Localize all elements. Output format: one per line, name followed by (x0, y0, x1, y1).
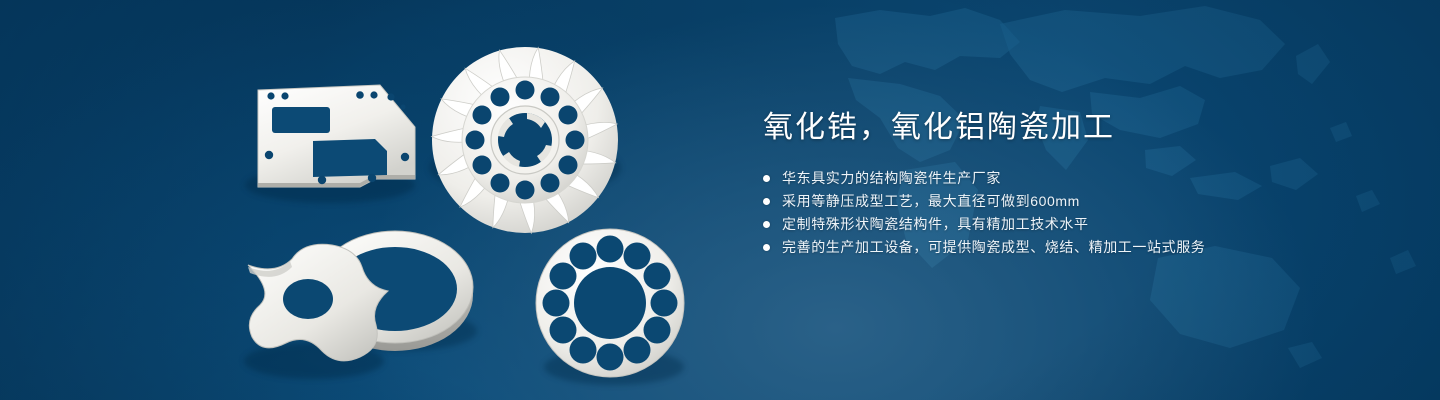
feature-list: 华东具实力的结构陶瓷件生产厂家 采用等静压成型工艺，最大直径可做到600mm 定… (763, 167, 1383, 258)
hero-banner: 氧化锆，氧化铝陶瓷加工 华东具实力的结构陶瓷件生产厂家 采用等静压成型工艺，最大… (0, 0, 1440, 400)
list-item: 完善的生产加工设备，可提供陶瓷成型、烧结、精加工一站式服务 (763, 236, 1383, 258)
list-item-label: 定制特殊形状陶瓷结构件，具有精加工技术水平 (782, 213, 1089, 235)
banner-copy: 氧化锆，氧化铝陶瓷加工 华东具实力的结构陶瓷件生产厂家 采用等静压成型工艺，最大… (763, 108, 1383, 259)
bullet-dot-icon (763, 221, 770, 228)
ceramic-perforated-disc (536, 229, 684, 385)
list-item: 华东具实力的结构陶瓷件生产厂家 (763, 167, 1383, 189)
bullet-dot-icon (763, 198, 770, 205)
list-item-label: 采用等静压成型工艺，最大直径可做到600mm (782, 190, 1080, 212)
ceramic-impeller-disc (429, 47, 621, 233)
ceramic-plate-with-cutouts (245, 85, 415, 203)
list-item: 采用等静压成型工艺，最大直径可做到600mm (763, 190, 1383, 212)
list-item-label: 华东具实力的结构陶瓷件生产厂家 (782, 167, 1001, 189)
page-title: 氧化锆，氧化铝陶瓷加工 (763, 108, 1383, 148)
bullet-dot-icon (763, 175, 770, 182)
ceramic-products-collage (215, 35, 755, 380)
bullet-dot-icon (763, 244, 770, 251)
list-item-label: 完善的生产加工设备，可提供陶瓷成型、烧结、精加工一站式服务 (782, 236, 1205, 258)
list-item: 定制特殊形状陶瓷结构件，具有精加工技术水平 (763, 213, 1383, 235)
